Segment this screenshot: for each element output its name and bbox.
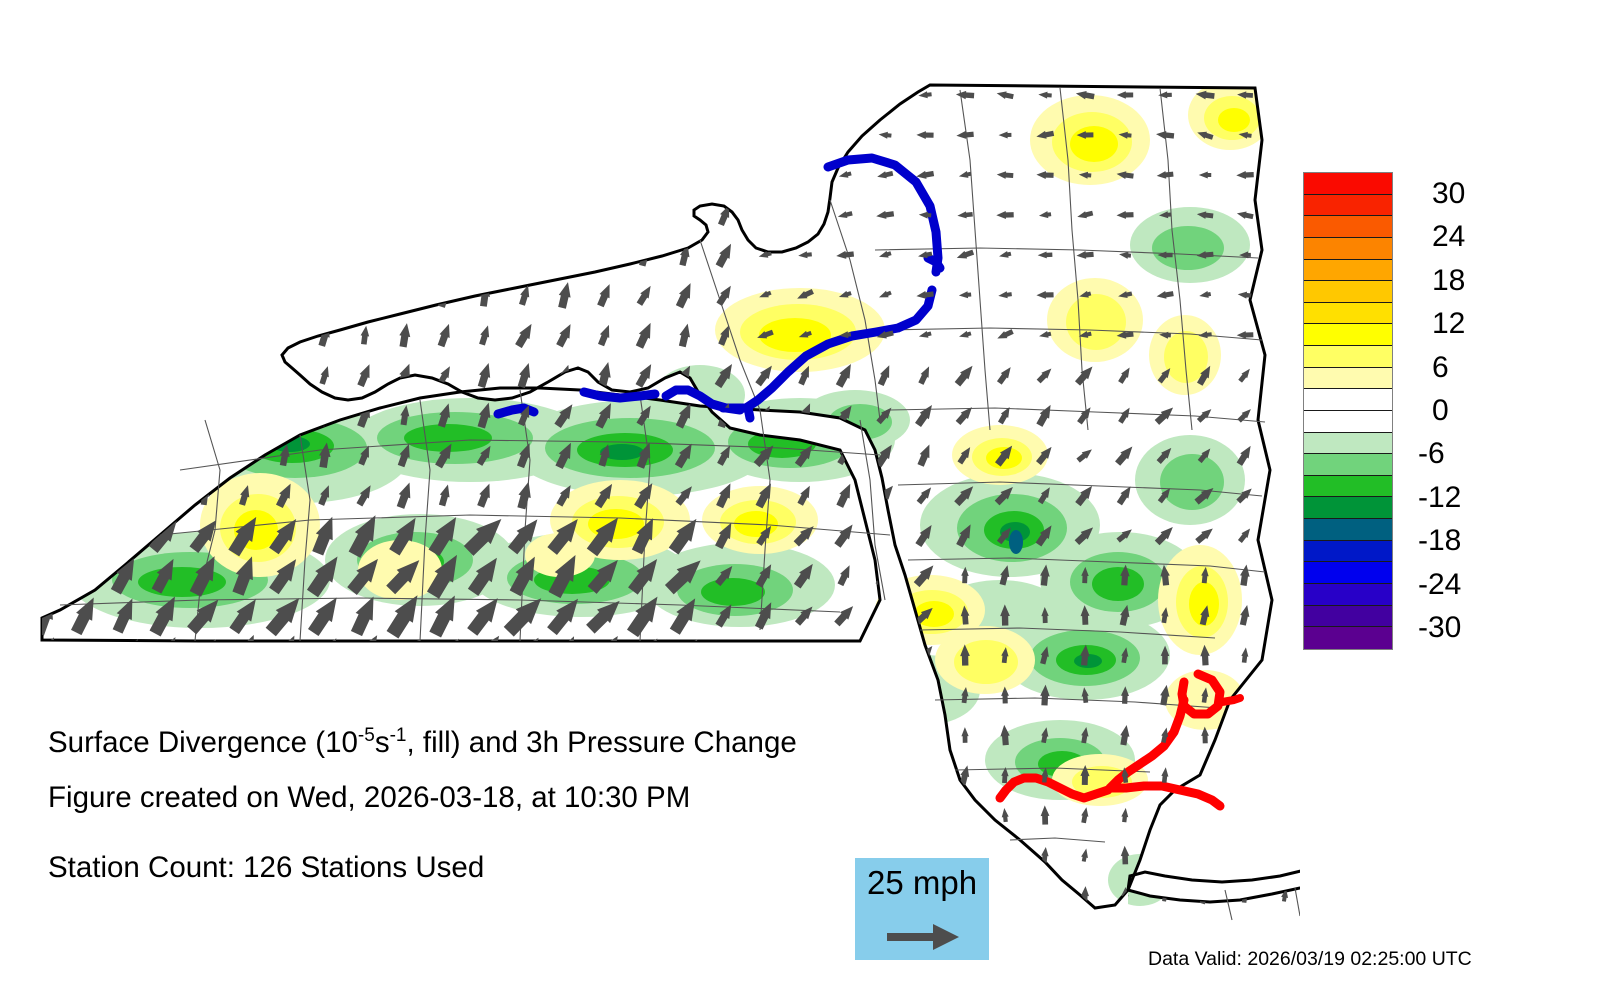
colorbar-band-15 (1304, 497, 1392, 519)
divergence-map[interactable] (0, 0, 1300, 960)
wind-speed-legend: 25 mph (855, 858, 989, 960)
map-content (0, 0, 1300, 960)
right-arrow-icon (887, 924, 959, 950)
title-post: , fill) and 3h Pressure Change (406, 726, 796, 759)
colorbar-tick-6: 6 (1432, 353, 1449, 383)
colorbar-band-18 (1304, 562, 1392, 584)
colorbar-tick--30: -30 (1418, 613, 1461, 643)
colorbar-tick-24: 24 (1432, 222, 1465, 252)
colorbar-band-19 (1304, 584, 1392, 606)
colorbar-tick-30: 30 (1432, 179, 1465, 209)
colorbar-tick--12: -12 (1418, 483, 1461, 513)
colorbar-band-3 (1304, 238, 1392, 260)
colorbar-tick-labels: 3024181260-6-12-18-24-30 (1418, 172, 1528, 650)
figure-created-text: Figure created on Wed, 2026-03-18, at 10… (48, 783, 690, 813)
data-valid-timestamp: Data Valid: 2026/03/19 02:25:00 UTC (1148, 950, 1472, 970)
colorbar-band-12 (1304, 433, 1392, 455)
divergence-colorbar[interactable] (1303, 172, 1393, 650)
colorbar-band-1 (1304, 195, 1392, 217)
colorbar-tick--6: -6 (1418, 439, 1445, 469)
colorbar-band-8 (1304, 346, 1392, 368)
station-count-text: Station Count: 126 Stations Used (48, 853, 484, 883)
colorbar-band-9 (1304, 368, 1392, 390)
colorbar-band-7 (1304, 324, 1392, 346)
chart-title: Surface Divergence (10-5s-1, fill) and 3… (48, 726, 797, 757)
colorbar-tick-18: 18 (1432, 266, 1465, 296)
colorbar-tick-0: 0 (1432, 396, 1449, 426)
colorbar-band-6 (1304, 303, 1392, 325)
colorbar-band-16 (1304, 519, 1392, 541)
colorbar-band-5 (1304, 281, 1392, 303)
title-exponent-1: -5 (358, 725, 375, 746)
title-pre: Surface Divergence (10 (48, 726, 358, 759)
colorbar-band-14 (1304, 476, 1392, 498)
map-canvas[interactable] (0, 0, 1300, 960)
title-exponent-2: -1 (390, 725, 407, 746)
colorbar-band-2 (1304, 216, 1392, 238)
colorbar-band-21 (1304, 627, 1392, 649)
colorbar-band-4 (1304, 260, 1392, 282)
colorbar-band-13 (1304, 454, 1392, 476)
colorbar-band-11 (1304, 411, 1392, 433)
title-mid: s (375, 726, 390, 759)
colorbar-band-17 (1304, 541, 1392, 563)
colorbar-tick-12: 12 (1432, 309, 1465, 339)
colorbar-band-10 (1304, 389, 1392, 411)
wind-legend-label: 25 mph (867, 866, 977, 899)
colorbar-band-20 (1304, 606, 1392, 628)
colorbar-band-0 (1304, 173, 1392, 195)
colorbar-tick--24: -24 (1418, 570, 1461, 600)
colorbar-tick--18: -18 (1418, 526, 1461, 556)
red-contour-stub (1222, 698, 1240, 702)
